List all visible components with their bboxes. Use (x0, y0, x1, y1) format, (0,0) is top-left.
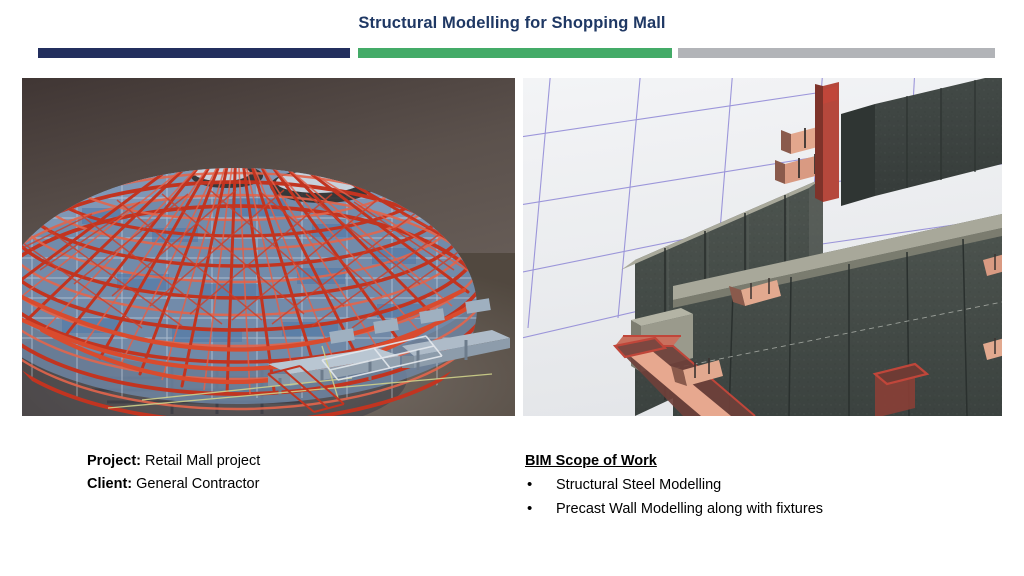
scope-list: • Structural Steel Modelling • Precast W… (525, 473, 823, 521)
list-item: • Structural Steel Modelling (525, 473, 823, 497)
project-label: Project: (87, 453, 141, 469)
list-item-label: Precast Wall Modelling along with fixtur… (556, 501, 823, 517)
steel-model-illustration (22, 78, 515, 416)
client-line: Client: General Contractor (87, 473, 260, 496)
accent-segment-gray (678, 48, 995, 58)
client-value: General Contractor (132, 476, 259, 492)
list-item-label: Structural Steel Modelling (556, 477, 721, 493)
project-details: Project: Retail Mall project Client: Gen… (87, 450, 260, 496)
bullet-icon: • (527, 473, 532, 497)
list-item: • Precast Wall Modelling along with fixt… (525, 497, 823, 521)
accent-bar (38, 48, 995, 58)
accent-segment-green (358, 48, 672, 58)
bim-scope-section: BIM Scope of Work • Structural Steel Mod… (525, 450, 823, 521)
structural-steel-model-image (22, 78, 515, 416)
precast-wall-model-image (523, 78, 1002, 416)
bullet-icon: • (527, 497, 532, 521)
project-line: Project: Retail Mall project (87, 450, 260, 473)
precast-wall-illustration (523, 78, 1002, 416)
scope-heading: BIM Scope of Work (525, 450, 823, 473)
project-value: Retail Mall project (141, 453, 260, 469)
page-title: Structural Modelling for Shopping Mall (0, 14, 1024, 33)
client-label: Client: (87, 476, 132, 492)
accent-segment-navy (38, 48, 350, 58)
